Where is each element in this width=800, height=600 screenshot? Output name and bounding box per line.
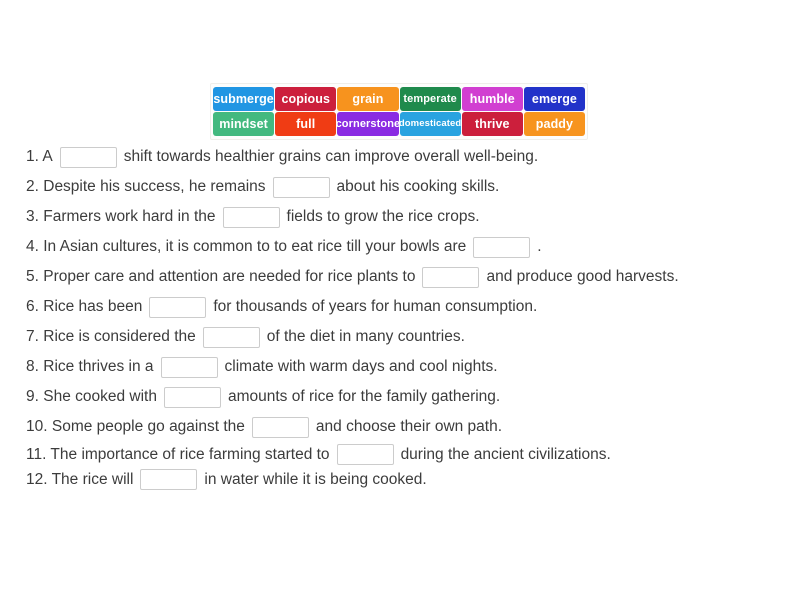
word-tile-humble[interactable]: humble xyxy=(462,87,523,111)
sentence-text-after-blank: shift towards healthier grains can impro… xyxy=(124,148,538,166)
word-tile-copious[interactable]: copious xyxy=(275,87,336,111)
answer-blank[interactable] xyxy=(473,237,530,258)
sentence-number: 2. xyxy=(26,178,39,196)
sentence-row: 7. Rice is considered theof the diet in … xyxy=(26,322,786,352)
answer-blank[interactable] xyxy=(164,387,221,408)
sentence-number: 7. xyxy=(26,328,39,346)
word-tile-thrive[interactable]: thrive xyxy=(462,112,523,136)
sentence-row: 6. Rice has beenfor thousands of years f… xyxy=(26,292,786,322)
sentence-text-before-blank: The rice will xyxy=(48,471,134,489)
word-tile-temperate[interactable]: temperate xyxy=(400,87,461,111)
sentence-text-after-blank: in water while it is being cooked. xyxy=(204,471,426,489)
sentence-text-after-blank: amounts of rice for the family gathering… xyxy=(228,388,500,406)
answer-blank[interactable] xyxy=(223,207,280,228)
sentence-number: 3. xyxy=(26,208,39,226)
sentence-text-after-blank: of the diet in many countries. xyxy=(267,328,465,346)
sentence-text-before-blank: Proper care and attention are needed for… xyxy=(39,268,416,286)
answer-blank[interactable] xyxy=(273,177,330,198)
sentence-text-before-blank: A xyxy=(39,148,53,166)
sentence-row: 1. Ashift towards healthier grains can i… xyxy=(26,142,786,172)
sentence-text-before-blank: She cooked with xyxy=(39,388,157,406)
answer-blank[interactable] xyxy=(337,444,394,465)
sentence-number: 4. xyxy=(26,238,39,256)
sentence-row: 2. Despite his success, he remainsabout … xyxy=(26,172,786,202)
word-tile-cornerstone[interactable]: cornerstone xyxy=(337,112,398,136)
word-tile-mindset[interactable]: mindset xyxy=(213,112,274,136)
sentence-text-after-blank: and choose their own path. xyxy=(316,418,502,436)
word-tile-emerge[interactable]: emerge xyxy=(524,87,585,111)
sentence-text-after-blank: about his cooking skills. xyxy=(337,178,500,196)
sentence-row: 3. Farmers work hard in thefields to gro… xyxy=(26,202,786,232)
sentence-text-after-blank: fields to grow the rice crops. xyxy=(287,208,480,226)
sentence-text-after-blank: and produce good harvests. xyxy=(486,268,678,286)
sentence-text-before-blank: Farmers work hard in the xyxy=(39,208,216,226)
sentence-number: 6. xyxy=(26,298,39,316)
word-tile-submerge[interactable]: submerge xyxy=(213,87,274,111)
answer-blank[interactable] xyxy=(252,417,309,438)
sentence-number: 10. xyxy=(26,418,48,436)
sentence-text-before-blank: Rice thrives in a xyxy=(39,358,154,376)
answer-blank[interactable] xyxy=(149,297,206,318)
word-bank-row-2: mindsetfullcornerstonedomesticatedthrive… xyxy=(213,112,585,136)
sentence-text-after-blank: during the ancient civilizations. xyxy=(401,446,611,464)
sentence-text-before-blank: The importance of rice farming started t… xyxy=(46,446,329,464)
sentence-text-after-blank: climate with warm days and cool nights. xyxy=(225,358,498,376)
sentence-text-before-blank: Some people go against the xyxy=(48,418,245,436)
sentence-number: 1. xyxy=(26,148,39,166)
sentence-row: 11. The importance of rice farming start… xyxy=(26,442,786,467)
word-bank-row-1: submergecopiousgraintemperatehumbleemerg… xyxy=(213,87,585,111)
sentence-text-after-blank: . xyxy=(537,238,541,256)
sentence-number: 12. xyxy=(26,471,48,489)
sentence-number: 5. xyxy=(26,268,39,286)
word-tile-full[interactable]: full xyxy=(275,112,336,136)
answer-blank[interactable] xyxy=(161,357,218,378)
sentence-text-before-blank: Despite his success, he remains xyxy=(39,178,266,196)
sentence-row: 12. The rice willin water while it is be… xyxy=(26,467,786,492)
sentence-row: 4. In Asian cultures, it is common to to… xyxy=(26,232,786,262)
sentence-row: 9. She cooked withamounts of rice for th… xyxy=(26,382,786,412)
word-bank: submergecopiousgraintemperatehumbleemerg… xyxy=(210,83,588,140)
sentence-text-before-blank: Rice is considered the xyxy=(39,328,196,346)
word-tile-domesticated[interactable]: domesticated xyxy=(400,112,461,136)
sentence-row: 8. Rice thrives in aclimate with warm da… xyxy=(26,352,786,382)
sentence-row: 5. Proper care and attention are needed … xyxy=(26,262,786,292)
answer-blank[interactable] xyxy=(60,147,117,168)
sentence-text-before-blank: Rice has been xyxy=(39,298,142,316)
word-tile-grain[interactable]: grain xyxy=(337,87,398,111)
sentence-list: 1. Ashift towards healthier grains can i… xyxy=(26,142,786,492)
sentence-number: 9. xyxy=(26,388,39,406)
answer-blank[interactable] xyxy=(422,267,479,288)
sentence-text-before-blank: In Asian cultures, it is common to to ea… xyxy=(39,238,466,256)
answer-blank[interactable] xyxy=(140,469,197,490)
answer-blank[interactable] xyxy=(203,327,260,348)
sentence-text-after-blank: for thousands of years for human consump… xyxy=(213,298,537,316)
sentence-number: 11. xyxy=(26,446,46,464)
sentence-number: 8. xyxy=(26,358,39,376)
word-tile-paddy[interactable]: paddy xyxy=(524,112,585,136)
sentence-row: 10. Some people go against theand choose… xyxy=(26,412,786,442)
